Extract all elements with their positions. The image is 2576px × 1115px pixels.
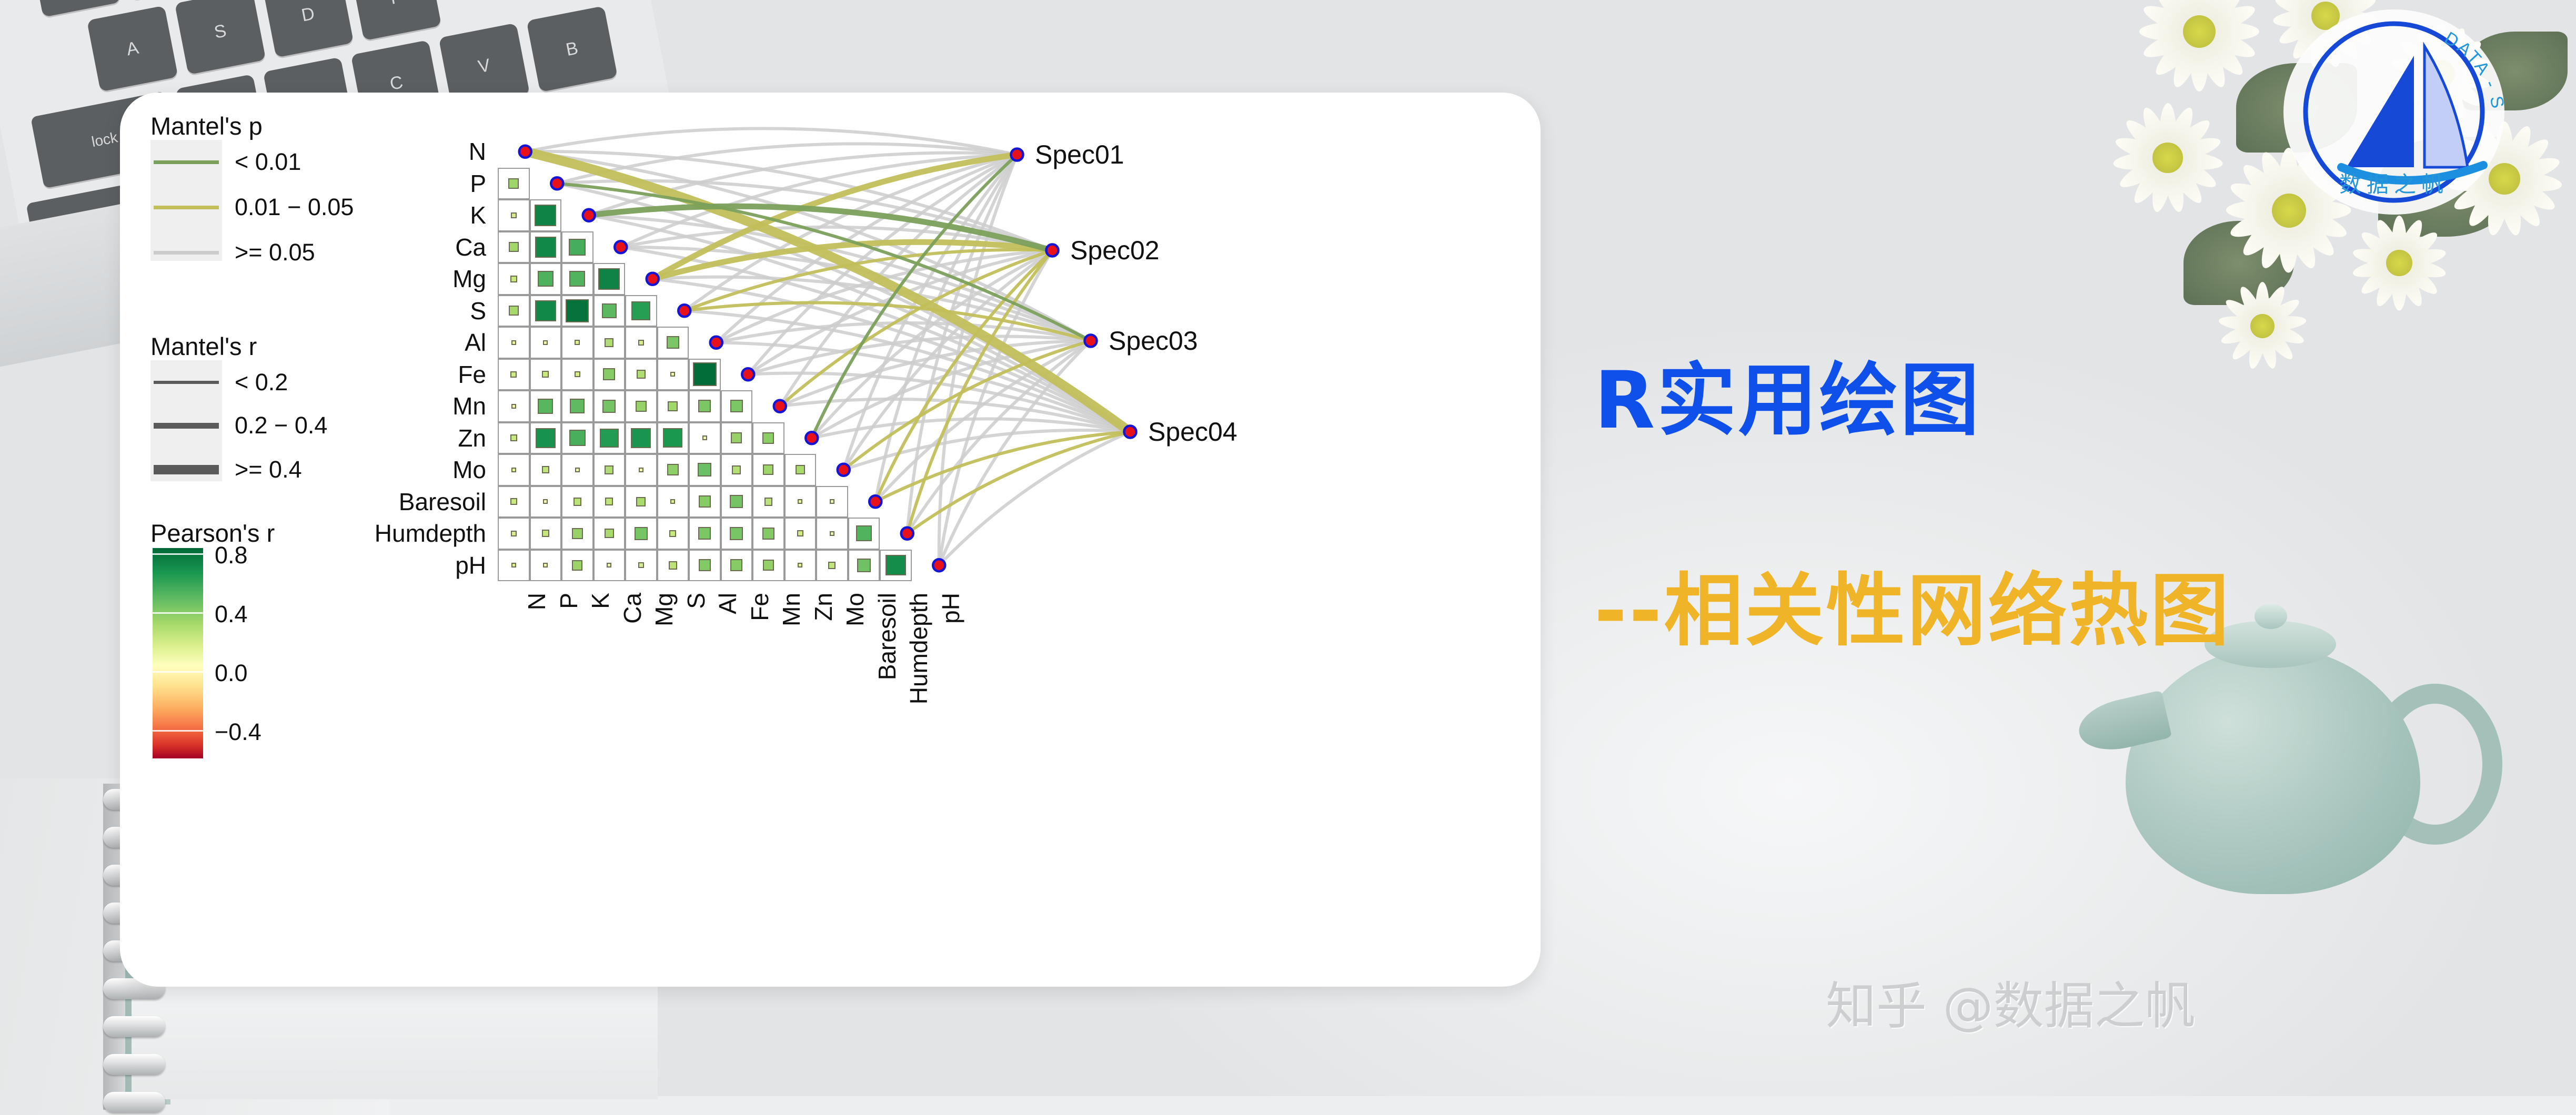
matrix-value-square xyxy=(575,371,580,377)
matrix-col-label: Mn xyxy=(777,593,806,626)
matrix-value-square xyxy=(797,530,803,536)
matrix-value-square xyxy=(511,563,516,567)
logo-cn-text: 数据之帆 xyxy=(2283,167,2504,199)
flower-center xyxy=(2250,314,2275,338)
matrix-value-square xyxy=(538,271,554,287)
matrix-value-square xyxy=(605,465,613,474)
matrix-col-label: Mo xyxy=(841,593,869,626)
matrix-value-square xyxy=(602,400,616,413)
matrix-value-square xyxy=(693,362,717,386)
matrix-row-label: Zn xyxy=(458,424,486,452)
matrix-value-square xyxy=(509,242,519,252)
matrix-value-square xyxy=(763,560,774,571)
matrix-row-label: Al xyxy=(465,328,486,357)
matrix-value-square xyxy=(510,434,517,441)
matrix-value-square xyxy=(508,178,519,189)
headline-title: R实用绘图 xyxy=(1594,337,1981,451)
matrix-value-square xyxy=(598,268,620,290)
matrix-value-square xyxy=(731,432,742,443)
matrix-value-square xyxy=(857,559,871,572)
matrix-value-square xyxy=(828,562,836,569)
matrix-value-square xyxy=(663,428,682,448)
flower-center xyxy=(2386,250,2412,276)
matrix-row-label: pH xyxy=(455,551,486,580)
keyboard-key: A xyxy=(87,5,178,92)
matrix-value-square xyxy=(605,498,613,505)
correlation-matrix: NPKCaMgSAlFeMnZnMoBaresoilHumdepthpHNPKC… xyxy=(120,93,1541,987)
matrix-value-square xyxy=(762,432,774,444)
matrix-col-label: K xyxy=(586,593,615,609)
matrix-value-square xyxy=(636,401,647,412)
matrix-row-label: Mg xyxy=(452,265,486,293)
network-node-label-spec03: Spec03 xyxy=(1109,326,1198,356)
matrix-value-square xyxy=(535,237,556,258)
matrix-row-label: K xyxy=(470,201,486,229)
matrix-row-label: Ca xyxy=(455,233,486,261)
matrix-col-label: Al xyxy=(713,593,742,614)
matrix-value-square xyxy=(667,336,679,349)
flower xyxy=(2110,100,2226,216)
matrix-value-square xyxy=(667,464,679,475)
matrix-value-square xyxy=(575,340,580,345)
matrix-value-square xyxy=(670,372,675,377)
matrix-value-square xyxy=(511,531,517,536)
flower xyxy=(2136,0,2262,95)
matrix-value-square xyxy=(569,271,585,287)
matrix-value-square xyxy=(730,527,743,540)
matrix-value-square xyxy=(605,529,614,538)
matrix-value-square xyxy=(798,499,802,504)
matrix-value-square xyxy=(607,563,611,567)
matrix-value-square xyxy=(510,498,517,505)
matrix-value-square xyxy=(570,399,585,413)
matrix-value-square xyxy=(638,562,644,568)
matrix-value-square xyxy=(698,463,711,477)
matrix-value-square xyxy=(603,368,615,380)
matrix-value-square xyxy=(702,435,707,440)
matrix-value-square xyxy=(668,401,678,411)
matrix-col-label: Zn xyxy=(809,593,838,621)
matrix-value-square xyxy=(635,527,648,540)
matrix-value-square xyxy=(572,560,582,571)
matrix-row-label: Baresoil xyxy=(399,488,486,516)
network-node-label-spec01: Spec01 xyxy=(1035,139,1124,170)
flower-center xyxy=(2183,15,2216,48)
matrix-value-square xyxy=(569,239,586,256)
matrix-value-square xyxy=(538,399,553,414)
matrix-value-square xyxy=(763,464,773,475)
matrix-value-square xyxy=(542,466,549,473)
network-node-label-spec02: Spec02 xyxy=(1070,235,1160,266)
teapot-knob xyxy=(2255,604,2287,629)
matrix-value-square xyxy=(732,465,741,474)
matrix-value-square xyxy=(511,212,517,218)
matrix-value-square xyxy=(856,525,872,541)
matrix-value-square xyxy=(511,468,516,472)
matrix-col-label: P xyxy=(555,593,583,609)
keyboard-key: B xyxy=(526,6,618,92)
matrix-value-square xyxy=(670,499,675,504)
matrix-value-square xyxy=(798,563,802,567)
matrix-value-square xyxy=(730,559,742,571)
matrix-value-square xyxy=(509,306,519,316)
flower xyxy=(2216,280,2309,372)
matrix-value-square xyxy=(698,527,711,540)
headline-subtitle: --相关性网络热图 xyxy=(1594,547,2231,661)
matrix-value-square xyxy=(699,559,711,571)
matrix-value-square xyxy=(636,497,646,506)
notebook-ring xyxy=(103,1092,165,1113)
matrix-value-square xyxy=(637,370,646,379)
matrix-value-square xyxy=(535,205,556,226)
matrix-value-square xyxy=(535,300,556,321)
flower xyxy=(2349,213,2449,313)
matrix-row-label: Mo xyxy=(452,455,486,484)
matrix-value-square xyxy=(600,429,619,448)
matrix-col-label: Mg xyxy=(650,593,678,626)
notebook-ring xyxy=(103,1054,165,1075)
matrix-value-square xyxy=(698,400,711,412)
matrix-row-label: N xyxy=(469,137,486,166)
matrix-value-square xyxy=(730,495,743,508)
matrix-col-label: S xyxy=(682,593,710,609)
matrix-value-square xyxy=(830,531,834,536)
matrix-value-square xyxy=(631,428,651,448)
matrix-row-label: S xyxy=(470,297,486,325)
matrix-value-square xyxy=(638,340,644,346)
matrix-value-square xyxy=(543,563,548,567)
matrix-value-square xyxy=(639,468,643,472)
matrix-value-square xyxy=(575,468,580,472)
matrix-col-label: Baresoil xyxy=(873,593,901,680)
matrix-value-square xyxy=(510,276,517,282)
matrix-value-square xyxy=(536,428,556,448)
matrix-row-label: P xyxy=(470,169,486,198)
matrix-value-square xyxy=(566,299,589,322)
notebook-ring xyxy=(103,1016,165,1037)
matrix-value-square xyxy=(511,340,516,345)
matrix-col-label: pH xyxy=(937,593,965,624)
matrix-row-label: Mn xyxy=(452,392,486,420)
matrix-value-square xyxy=(605,338,613,347)
matrix-value-square xyxy=(699,495,711,508)
matrix-value-square xyxy=(602,303,617,318)
matrix-value-square xyxy=(542,371,549,378)
matrix-value-square xyxy=(730,400,743,412)
matrix-value-square xyxy=(569,430,586,446)
matrix-value-square xyxy=(669,530,676,537)
matrix-col-label: N xyxy=(522,593,551,610)
matrix-value-square xyxy=(830,499,834,504)
matrix-value-square xyxy=(762,528,774,540)
matrix-value-square xyxy=(669,561,677,570)
brand-logo: DATA - SAIL 数据之帆 xyxy=(2283,9,2504,215)
matrix-row-label: Humdepth xyxy=(375,519,486,548)
matrix-col-label: Humdepth xyxy=(904,593,933,704)
matrix-col-label: Fe xyxy=(746,593,774,621)
matrix-value-square xyxy=(510,371,517,378)
matrix-col-label: Ca xyxy=(618,593,647,624)
matrix-value-square xyxy=(572,528,583,539)
matrix-value-square xyxy=(796,465,805,474)
matrix-value-square xyxy=(542,530,549,537)
watermark-text: 知乎 @数据之帆 xyxy=(1826,965,2196,1038)
matrix-value-square xyxy=(764,498,773,506)
matrix-value-square xyxy=(543,499,548,504)
matrix-value-square xyxy=(573,498,582,506)
matrix-value-square xyxy=(631,301,650,320)
network-node-label-spec04: Spec04 xyxy=(1148,417,1237,447)
matrix-row-label: Fe xyxy=(458,360,486,389)
matrix-value-square xyxy=(543,340,548,345)
flower-center xyxy=(2152,143,2182,173)
matrix-value-square xyxy=(885,555,906,575)
matrix-value-square xyxy=(511,404,516,409)
plot-card: Mantel's p < 0.01 0.01 − 0.05 >= 0.05 Ma… xyxy=(120,93,1541,987)
